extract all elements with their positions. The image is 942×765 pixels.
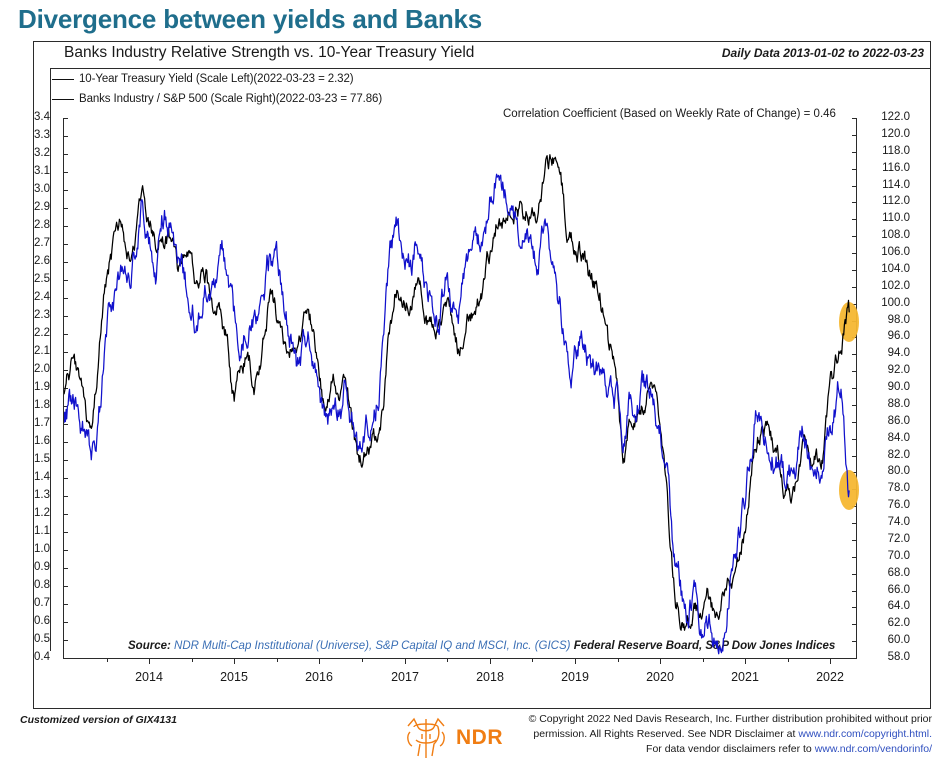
ndr-wordmark: NDR xyxy=(456,726,503,750)
y-axis-right-tick-label: 86.0 xyxy=(870,416,910,428)
y-axis-left-tick-label: 0.5 xyxy=(34,634,50,646)
series-path-banks-relative-strength xyxy=(64,174,849,654)
y-axis-left-tick-label: 2.0 xyxy=(34,364,50,376)
y-axis-left-tick-label: 2.8 xyxy=(34,220,50,232)
y-axis-right-tick-label: 110.0 xyxy=(870,213,910,225)
y-axis-left-tick-label: 3.2 xyxy=(34,148,50,160)
x-axis-minor-tick xyxy=(788,658,789,662)
copyright-line-1: © Copyright 2022 Ned Davis Research, Inc… xyxy=(502,712,932,727)
y-axis-left-tick-label: 1.2 xyxy=(34,508,50,520)
y-axis-left-tick-label: 1.4 xyxy=(34,472,50,484)
x-axis-minor-tick xyxy=(703,658,704,662)
y-axis-left-tick-label: 1.5 xyxy=(34,454,50,466)
x-axis-tick-label: 2018 xyxy=(476,670,504,684)
y-axis-left-tick-label: 1.0 xyxy=(34,544,50,556)
y-axis-left-tick-label: 3.0 xyxy=(34,184,50,196)
x-axis-tick-mark xyxy=(660,658,661,664)
y-axis-right-tick-label: 62.0 xyxy=(870,618,910,630)
y-axis-right-tick-label: 64.0 xyxy=(870,601,910,613)
y-axis-right-tick-label: 72.0 xyxy=(870,534,910,546)
y-axis-left-tick-label: 3.4 xyxy=(34,112,50,124)
y-axis-left-tick-label: 2.7 xyxy=(34,238,50,250)
y-axis-right-tick-label: 120.0 xyxy=(870,129,910,141)
y-axis-right-tick-label: 80.0 xyxy=(870,466,910,478)
copyright-block: © Copyright 2022 Ned Davis Research, Inc… xyxy=(502,712,932,758)
y-axis-left-tick-label: 0.6 xyxy=(34,616,50,628)
y-axis-left-tick-label: 2.4 xyxy=(34,292,50,304)
plot-area xyxy=(64,118,856,658)
y-axis-left-tick-label: 1.7 xyxy=(34,418,50,430)
y-axis-left-tick-label: 2.1 xyxy=(34,346,50,358)
chart-plot-svg xyxy=(64,118,856,658)
y-axis-left-tick-label: 3.1 xyxy=(34,166,50,178)
x-axis-tick-label: 2017 xyxy=(391,670,419,684)
x-axis-tick-mark xyxy=(234,658,235,664)
x-axis-minor-tick xyxy=(277,658,278,662)
copyright-line-3-text: For data vendor disclaimers refer to xyxy=(646,743,812,755)
x-axis-minor-tick xyxy=(362,658,363,662)
copyright-line-3: For data vendor disclaimers refer to www… xyxy=(502,742,932,757)
line-swatch-icon xyxy=(52,79,74,80)
y-axis-right-tick-label: 88.0 xyxy=(870,399,910,411)
y-axis-left-tick-label: 0.8 xyxy=(34,580,50,592)
x-axis-minor-tick xyxy=(532,658,533,662)
legend-item-banks-relative-strength: Banks Industry / S&P 500 (Scale Right)(2… xyxy=(52,90,552,108)
x-axis-tick-mark xyxy=(575,658,576,664)
chart-header: Banks Industry Relative Strength vs. 10-… xyxy=(34,44,930,68)
x-axis-tick-label: 2021 xyxy=(731,670,759,684)
y-axis-right-tick-label: 106.0 xyxy=(870,247,910,259)
y-axis-left-tick-label: 2.5 xyxy=(34,274,50,286)
daily-data-range: Daily Data 2013-01-02 to 2022-03-23 xyxy=(722,46,924,60)
y-axis-left-tick-label: 1.1 xyxy=(34,526,50,538)
y-axis-left-tick-label: 2.9 xyxy=(34,202,50,214)
legend-item-label: 10-Year Treasury Yield (Scale Left)(2022… xyxy=(79,73,354,85)
y-axis-left-tick-label: 2.2 xyxy=(34,328,50,340)
x-axis-tick-label: 2016 xyxy=(305,670,333,684)
x-axis-tick-label: 2019 xyxy=(561,670,589,684)
y-axis-left-tick-label: 0.7 xyxy=(34,598,50,610)
x-axis-tick-mark xyxy=(745,658,746,664)
y-axis-right-tick-label: 78.0 xyxy=(870,483,910,495)
y-axis-right-tick-label: 114.0 xyxy=(870,180,910,192)
y-axis-right-tick-label: 74.0 xyxy=(870,517,910,529)
y-axis-right-tick-label: 102.0 xyxy=(870,281,910,293)
y-axis-right-tick-label: 58.0 xyxy=(870,652,910,664)
x-axis-minor-tick xyxy=(107,658,108,662)
page-title: Divergence between yields and Banks xyxy=(18,4,482,35)
y-axis-right-tick-label: 108.0 xyxy=(870,230,910,242)
x-axis-tick-label: 2015 xyxy=(220,670,248,684)
y-axis-right-tick-label: 82.0 xyxy=(870,450,910,462)
x-axis-tick-mark xyxy=(405,658,406,664)
y-axis-right-tick-label: 94.0 xyxy=(870,348,910,360)
legend-item-treasury-yield: 10-Year Treasury Yield (Scale Left)(2022… xyxy=(52,70,552,88)
ndr-logo: NDR xyxy=(398,714,518,760)
x-axis-minor-tick xyxy=(192,658,193,662)
copyright-line-2-text: permission. All Rights Reserved. See NDR… xyxy=(533,728,795,740)
y-axis-left-tick-label: 2.3 xyxy=(34,310,50,322)
y-axis-right-tick-label: 98.0 xyxy=(870,315,910,327)
customized-version-label: Customized version of GIX4131 xyxy=(20,714,177,726)
y-axis-right-tick-label: 76.0 xyxy=(870,500,910,512)
chart-legend: 10-Year Treasury Yield (Scale Left)(2022… xyxy=(52,70,552,110)
y-axis-left-tick-label: 1.8 xyxy=(34,400,50,412)
x-axis-tick-mark xyxy=(149,658,150,664)
y-axis-right-tick-label: 66.0 xyxy=(870,585,910,597)
y-axis-right-tick-label: 116.0 xyxy=(870,163,910,175)
y-axis-right-tick-label: 122.0 xyxy=(870,112,910,124)
y-axis-right-tick-label: 60.0 xyxy=(870,635,910,647)
chart-subtitle: Banks Industry Relative Strength vs. 10-… xyxy=(64,44,474,62)
y-axis-left-tick-label: 1.9 xyxy=(34,382,50,394)
y-axis-right-tick-label: 84.0 xyxy=(870,433,910,445)
x-axis-minor-tick xyxy=(447,658,448,662)
vendorinfo-link[interactable]: www.ndr.com/vendorinfo/ xyxy=(815,743,932,755)
y-axis-right-tick-label: 90.0 xyxy=(870,382,910,394)
y-axis-left-tick-label: 2.6 xyxy=(34,256,50,268)
y-axis-right-tick-label: 112.0 xyxy=(870,196,910,208)
x-axis-tick-label: 2020 xyxy=(646,670,674,684)
x-axis-tick-label: 2014 xyxy=(135,670,163,684)
y-axis-left-tick-label: 0.4 xyxy=(34,652,50,664)
copyright-link[interactable]: www.ndr.com/copyright.html. xyxy=(798,728,932,740)
copyright-line-2: permission. All Rights Reserved. See NDR… xyxy=(502,727,932,742)
y-axis-right-tick-label: 70.0 xyxy=(870,551,910,563)
y-axis-left-tick-label: 1.6 xyxy=(34,436,50,448)
y-axis-left-tick-label: 0.9 xyxy=(34,562,50,574)
series-path-treasury-yield xyxy=(64,155,849,631)
line-swatch-icon xyxy=(52,99,74,100)
y-axis-right-tick-label: 92.0 xyxy=(870,365,910,377)
y-axis-left-tick-label: 1.3 xyxy=(34,490,50,502)
y-axis-right-tick-label: 68.0 xyxy=(870,568,910,580)
x-axis-tick-mark xyxy=(319,658,320,664)
y-axis-left: 3.43.33.23.13.02.92.82.72.62.52.42.32.22… xyxy=(0,118,64,658)
x-axis: 201420152016201720182019202020212022 xyxy=(64,658,856,688)
x-axis-tick-mark xyxy=(830,658,831,664)
y-axis-right-tick-label: 100.0 xyxy=(870,298,910,310)
y-axis-left-tick-label: 3.3 xyxy=(34,130,50,142)
x-axis-minor-tick xyxy=(618,658,619,662)
y-axis-right-tick-label: 104.0 xyxy=(870,264,910,276)
y-axis-right-tick-label: 118.0 xyxy=(870,146,910,158)
legend-item-label: Banks Industry / S&P 500 (Scale Right)(2… xyxy=(79,93,382,105)
x-axis-tick-mark xyxy=(490,658,491,664)
y-axis-right: 122.0120.0118.0116.0114.0112.0110.0108.0… xyxy=(856,118,942,658)
ndr-bull-icon xyxy=(398,714,454,760)
x-axis-tick-label: 2022 xyxy=(816,670,844,684)
y-axis-right-tick-label: 96.0 xyxy=(870,331,910,343)
